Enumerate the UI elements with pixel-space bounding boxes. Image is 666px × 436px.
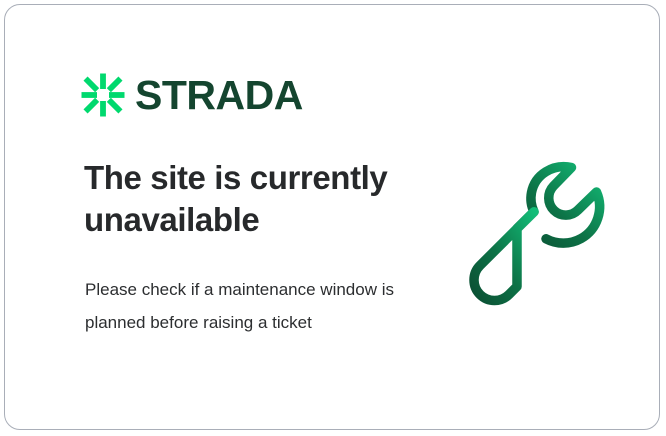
maintenance-page-card: STRADA The site is currently unavailable…	[4, 4, 660, 430]
brand-lockup: STRADA	[81, 73, 303, 117]
wrench-icon	[463, 157, 613, 312]
page-title: The site is currently unavailable	[84, 157, 424, 241]
brand-wordmark: STRADA	[135, 75, 303, 116]
strada-asterisk-icon	[81, 73, 125, 117]
page-description: Please check if a maintenance window is …	[85, 273, 405, 339]
